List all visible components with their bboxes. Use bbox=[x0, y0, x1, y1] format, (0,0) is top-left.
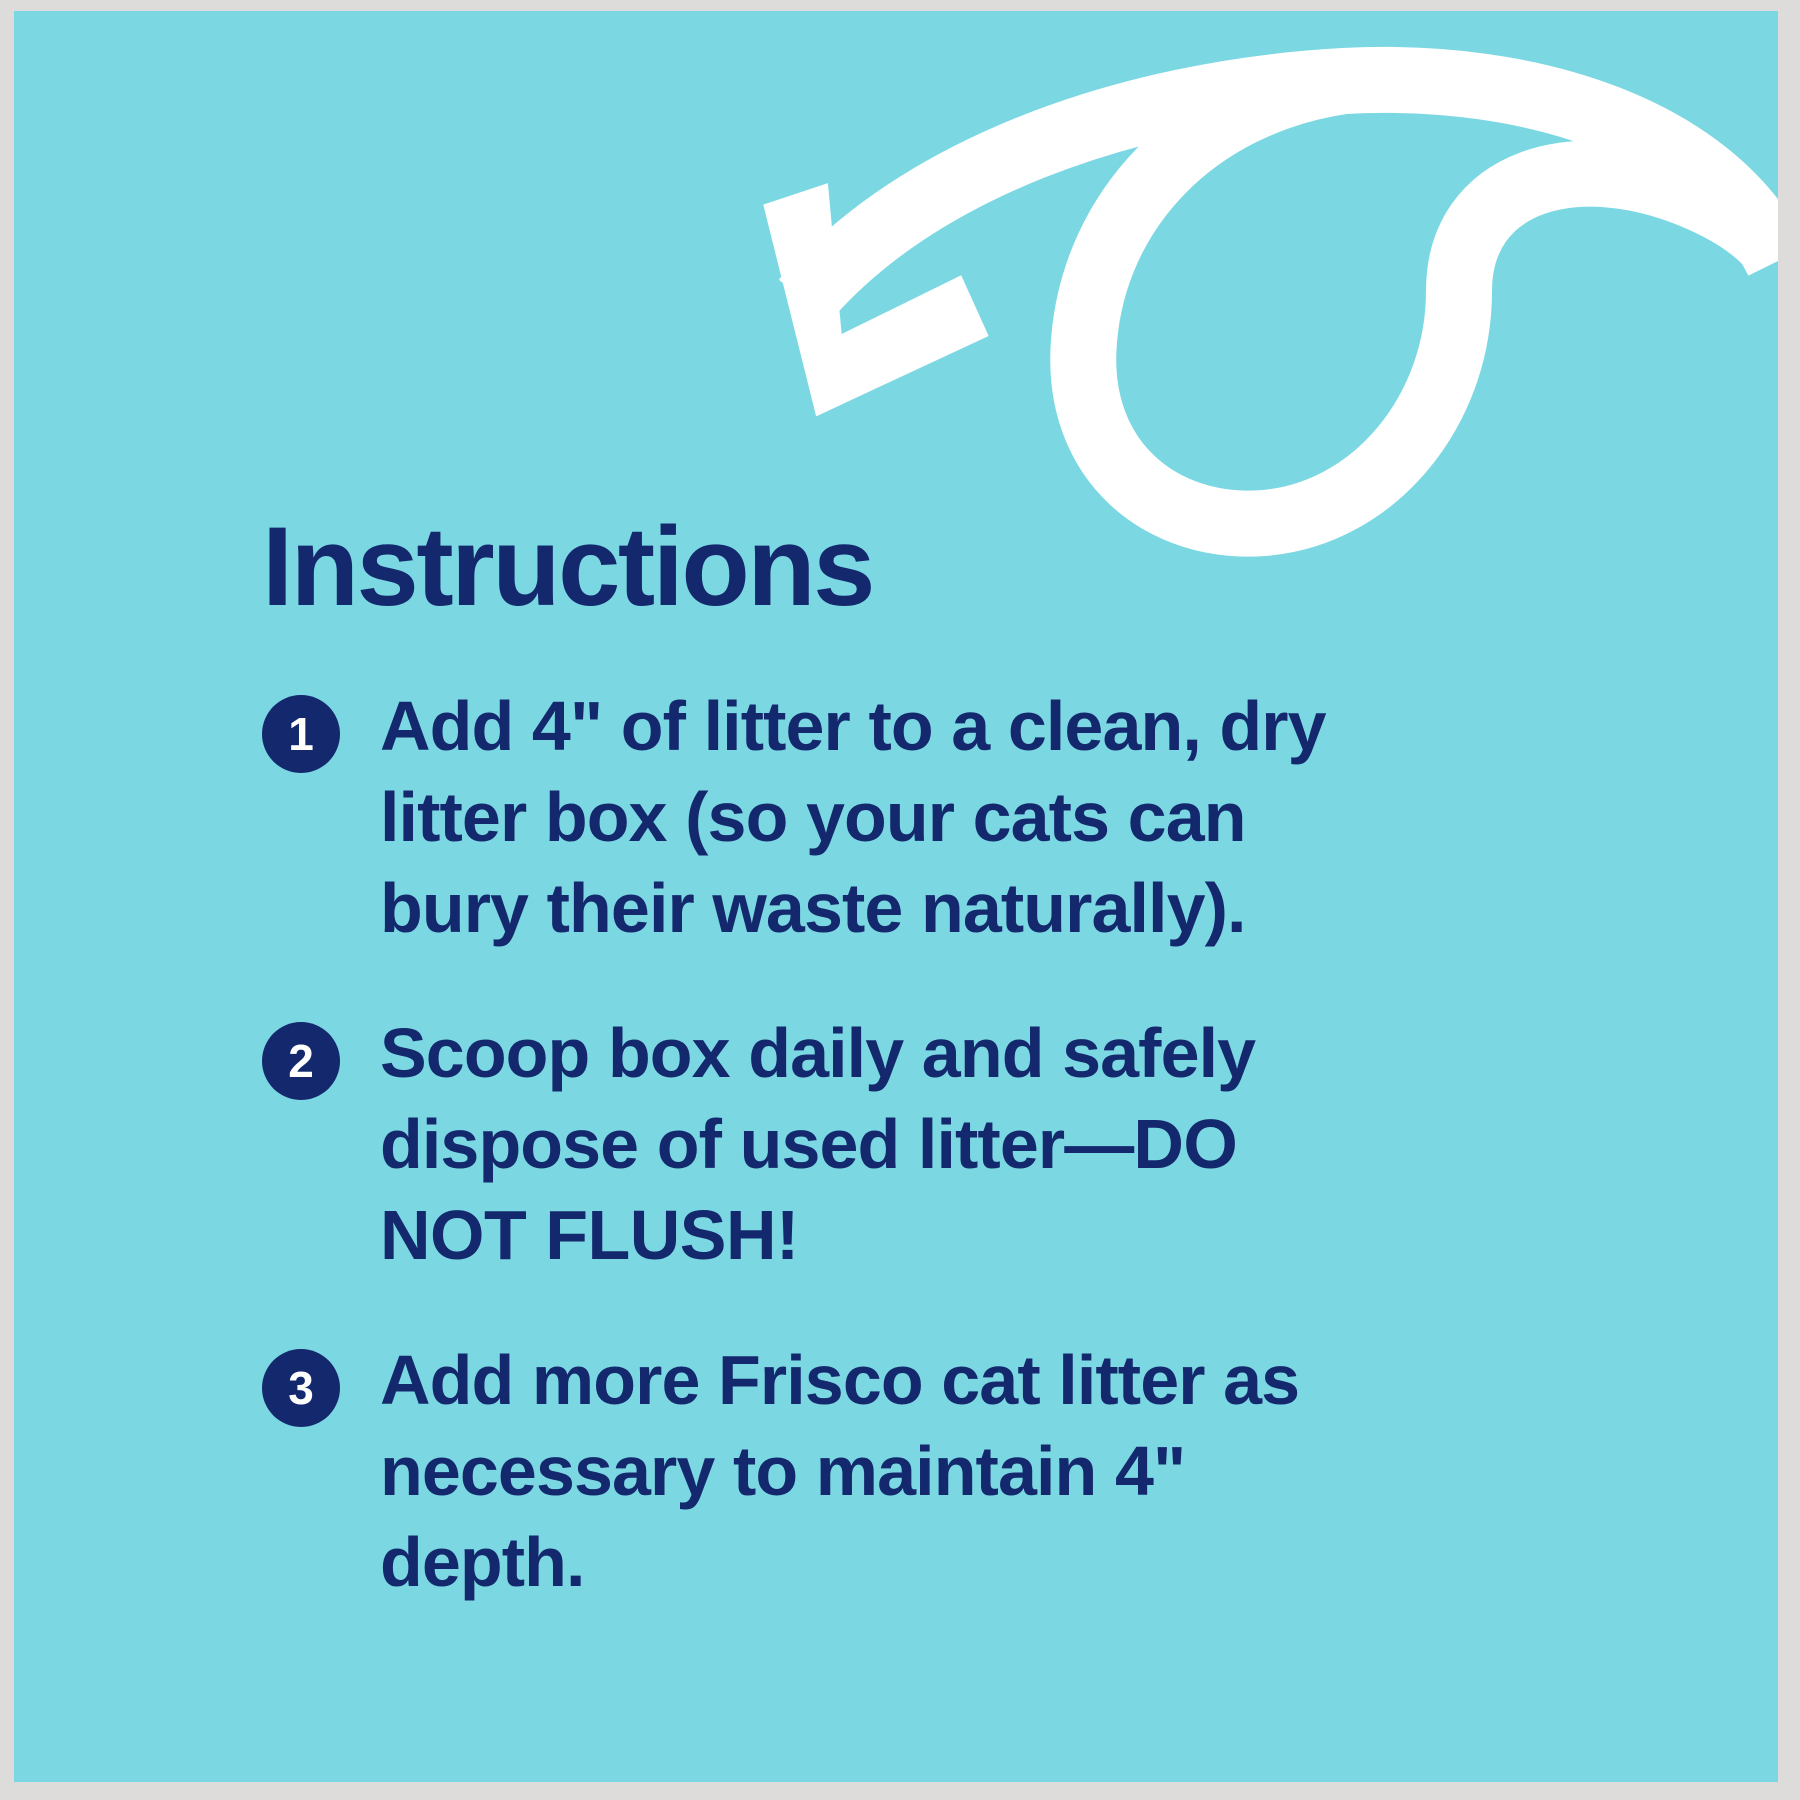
arrow-outer-curve bbox=[804, 80, 1778, 301]
step-text-body: Add more Frisco cat litter as necessary … bbox=[380, 1341, 1299, 1601]
instructions-card: Instructions 1 Add 4" of litter to a cle… bbox=[14, 11, 1778, 1782]
instruction-step-2: 2 Scoop box daily and safely dispose of … bbox=[262, 1008, 1642, 1281]
instructions-card-canvas: Instructions 1 Add 4" of litter to a cle… bbox=[0, 0, 1800, 1800]
step-text-body: Add 4" of litter to a clean, dry litter … bbox=[380, 687, 1326, 947]
page-title: Instructions bbox=[262, 511, 1642, 623]
step-text: Add more Frisco cat litter as necessary … bbox=[380, 1335, 1380, 1608]
instruction-step-3: 3 Add more Frisco cat litter as necessar… bbox=[262, 1335, 1642, 1608]
instruction-step-1: 1 Add 4" of litter to a clean, dry litte… bbox=[262, 681, 1642, 954]
step-number-badge: 1 bbox=[262, 695, 340, 773]
step-number-badge: 3 bbox=[262, 1349, 340, 1427]
step-text-body: Scoop box daily and safely dispose of us… bbox=[380, 1014, 1255, 1183]
arrow-stroke-group bbox=[804, 80, 1778, 524]
arrowhead-icon bbox=[763, 183, 988, 416]
step-text: Scoop box daily and safely dispose of us… bbox=[380, 1008, 1380, 1281]
step-text: Add 4" of litter to a clean, dry litter … bbox=[380, 681, 1380, 954]
step-number-badge: 2 bbox=[262, 1022, 340, 1100]
instructions-content: Instructions 1 Add 4" of litter to a cle… bbox=[262, 511, 1642, 1608]
arrow-loop-curve bbox=[1083, 81, 1778, 524]
